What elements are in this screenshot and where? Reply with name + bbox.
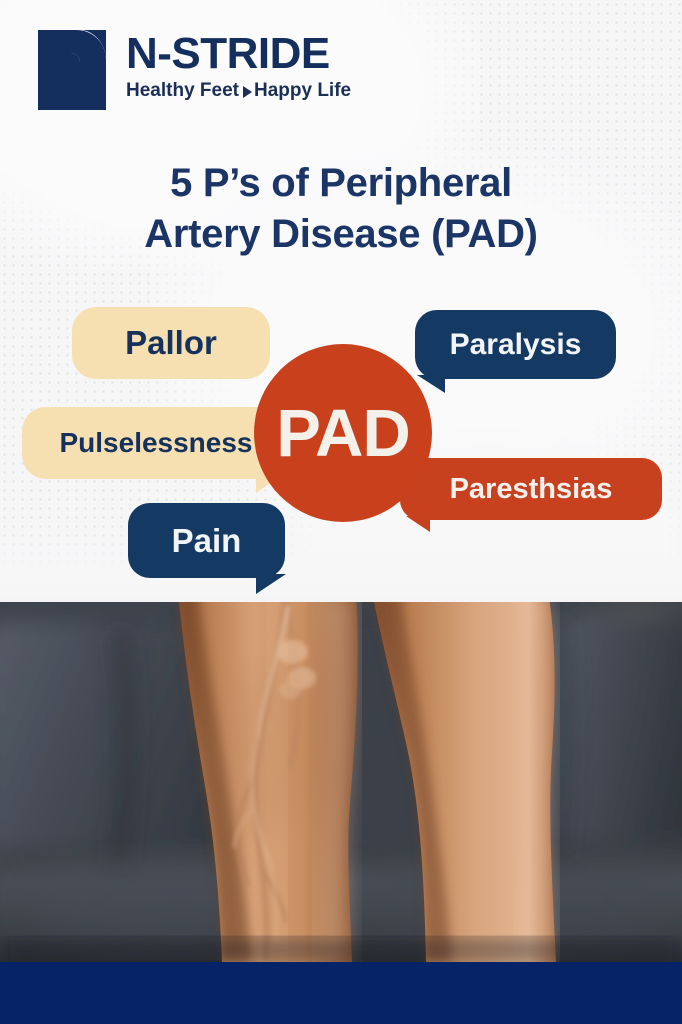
symptom-label: Paralysis xyxy=(450,328,582,362)
page-title-line-1: 5 P’s of Peripheral xyxy=(0,158,682,209)
footer-bar xyxy=(0,962,682,1024)
tagline-left-text: Healthy Feet xyxy=(126,81,239,102)
tagline-right-text: Happy Life xyxy=(254,81,351,102)
symptom-label: Pallor xyxy=(125,324,217,362)
pad-infographic-poster: N-STRIDE Healthy Feet Happy Life 5 P’s o… xyxy=(0,0,682,1024)
symptom-bubble-pallor: Pallor xyxy=(72,307,270,379)
symptom-label: Paresthsias xyxy=(450,473,613,506)
brand-logo[interactable]: N-STRIDE Healthy Feet Happy Life xyxy=(36,28,351,112)
page-title: 5 P’s of Peripheral Artery Disease (PAD) xyxy=(0,158,682,260)
brand-tagline: Healthy Feet Happy Life xyxy=(126,81,351,102)
background-wash-bottom xyxy=(0,520,682,602)
page-title-line-2: Artery Disease (PAD) xyxy=(0,209,682,260)
symptom-bubble-pulselessness: Pulselessness xyxy=(22,407,290,479)
symptom-bubble-pain: Pain xyxy=(128,503,285,578)
bubble-tail xyxy=(256,574,286,594)
play-triangle-icon xyxy=(243,86,252,98)
pad-acronym-circle: PAD xyxy=(254,344,432,522)
symptom-label: Pulselessness xyxy=(59,427,252,459)
symptom-label: Pain xyxy=(172,522,242,560)
pad-acronym-label: PAD xyxy=(276,400,410,467)
brand-name: N-STRIDE xyxy=(126,32,351,75)
symptom-bubble-paresthsias: Paresthsias xyxy=(400,458,662,520)
bubble-tail xyxy=(406,516,430,532)
photo-illustration xyxy=(0,602,682,962)
n-monogram-icon xyxy=(36,28,108,112)
legs-varicose-veins-photo xyxy=(0,602,682,962)
symptom-bubble-paralysis: Paralysis xyxy=(415,310,616,379)
brand-wordmark-block: N-STRIDE Healthy Feet Happy Life xyxy=(126,28,351,102)
